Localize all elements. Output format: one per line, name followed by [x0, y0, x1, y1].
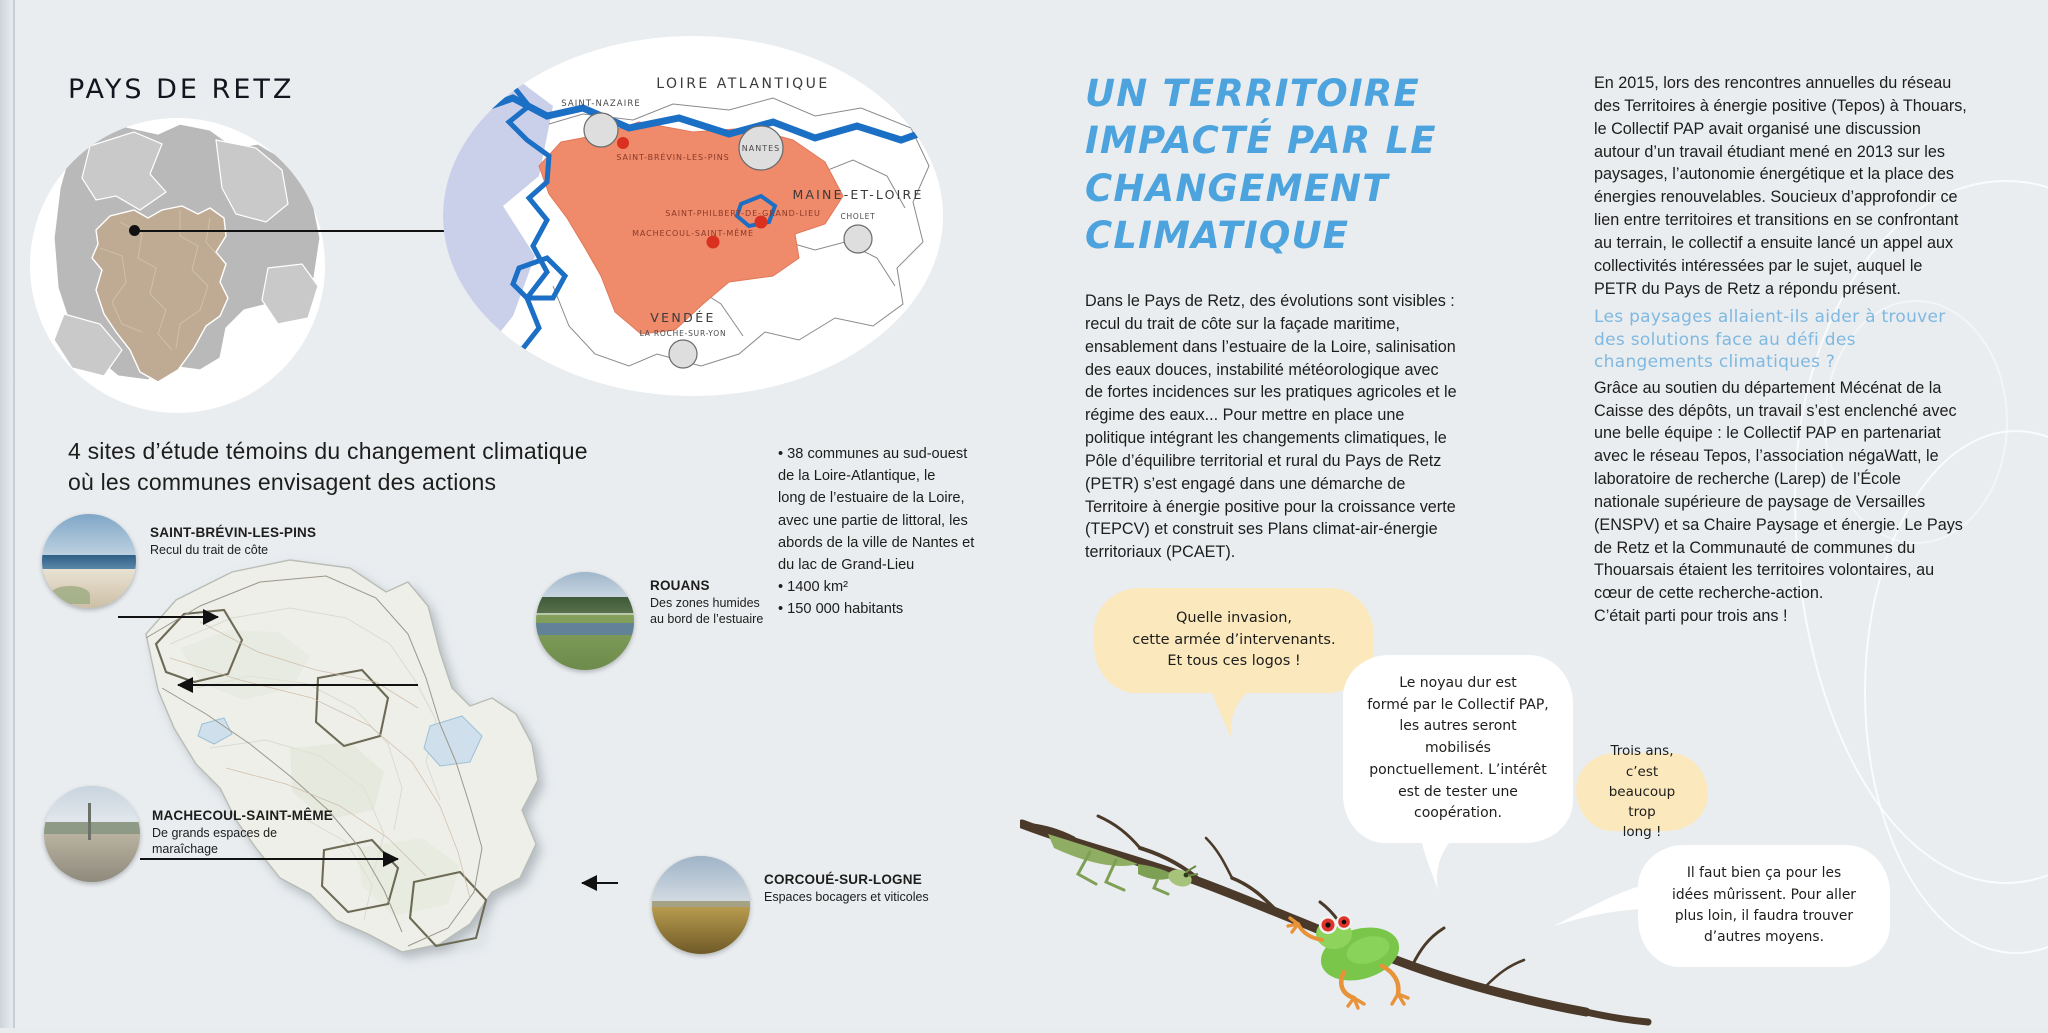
svg-text:NANTES: NANTES: [742, 144, 780, 153]
svg-text:SAINT-BRÉVIN-LES-PINS: SAINT-BRÉVIN-LES-PINS: [616, 151, 729, 162]
list-item: avec une partie de littoral, les: [778, 510, 998, 532]
svg-text:SAINT-PHILBERT-DE-GRAND-LIEU: SAINT-PHILBERT-DE-GRAND-LIEU: [665, 209, 821, 218]
site-name: CORCOUÉ-SUR-LOGNE: [764, 872, 1024, 887]
branch-and-animals-illustration: [1020, 790, 1720, 1028]
site-caption-rouans: ROUANS Des zones humides au bord de l’es…: [650, 578, 880, 627]
speech-bubble-invasion: Quelle invasion, cette armée d’intervena…: [1094, 588, 1374, 693]
site-photo-rouans: [536, 572, 634, 670]
site-description: Des zones humides au bord de l’estuaire: [650, 596, 880, 627]
svg-text:LA ROCHE-SUR-YON: LA ROCHE-SUR-YON: [640, 329, 727, 338]
svg-text:VENDÉE: VENDÉE: [650, 310, 716, 325]
right-paragraph-3: C’était parti pour trois ans !: [1594, 605, 1969, 628]
regional-map: LOIRE ATLANTIQUE MAINE-ET-LOIRE VENDÉE S…: [443, 36, 943, 396]
right-question: Les paysages allaient-ils aider à trouve…: [1594, 306, 1969, 372]
site-photo-saint-brevin: [42, 514, 136, 608]
france-locator-map: [30, 118, 325, 413]
site-description: Recul du trait de côte: [150, 543, 390, 559]
list-item: de la Loire-Atlantique, le: [778, 465, 998, 487]
left-gutter: [0, 0, 14, 1028]
main-body-text: Dans le Pays de Retz, des évolutions son…: [1085, 290, 1460, 564]
main-headline: UN TERRITOIRE IMPACTÉ PAR LE CHANGEMENT …: [1085, 70, 1505, 259]
site-caption-corcoue: CORCOUÉ-SUR-LOGNE Espaces bocagers et vi…: [764, 872, 1024, 906]
sites-heading-line2: où les communes envisagent des actions: [68, 467, 708, 498]
svg-text:LOIRE ATLANTIQUE: LOIRE ATLANTIQUE: [656, 76, 829, 92]
page-title: PAYS DE RETZ: [68, 74, 294, 105]
gutter-rule: [13, 0, 15, 1028]
site-photo-corcoue: [652, 856, 750, 954]
arrow-to-saint-brevin: [118, 616, 218, 618]
list-item: du lac de Grand-Lieu: [778, 554, 998, 576]
list-item: abords de la ville de Nantes et: [778, 532, 998, 554]
svg-text:MAINE-ET-LOIRE: MAINE-ET-LOIRE: [792, 187, 923, 202]
list-item: long de l’estuaire de la Loire,: [778, 487, 998, 509]
speech-bubble-invasion-tail: [1206, 684, 1266, 744]
arrow-to-corcoue: [582, 882, 618, 884]
site-name: ROUANS: [650, 578, 880, 593]
site-name: SAINT-BRÉVIN-LES-PINS: [150, 525, 390, 540]
site-description: De grands espaces de maraîchage: [152, 826, 402, 857]
site-caption-machecoul: MACHECOUL-SAINT-MÊME De grands espaces d…: [152, 808, 402, 857]
site-description: Espaces bocagers et viticoles: [764, 890, 1024, 906]
list-item: • 38 communes au sud-ouest: [778, 443, 998, 465]
right-paragraph-2: Grâce au soutien du département Mécénat …: [1594, 377, 1969, 605]
svg-text:SAINT-NAZAIRE: SAINT-NAZAIRE: [561, 99, 641, 109]
arrow-to-machecoul: [140, 858, 398, 860]
site-name: MACHECOUL-SAINT-MÊME: [152, 808, 402, 823]
sites-heading: 4 sites d’étude témoins du changement cl…: [68, 436, 708, 498]
poster-page: PAYS DE RETZ: [0, 0, 2048, 1028]
sites-heading-line1: 4 sites d’étude témoins du changement cl…: [68, 436, 708, 467]
svg-text:MACHECOUL-SAINT-MÊME: MACHECOUL-SAINT-MÊME: [632, 227, 754, 238]
arrow-to-rouans: [178, 684, 418, 686]
svg-text:CHOLET: CHOLET: [840, 212, 875, 221]
site-caption-saint-brevin: SAINT-BRÉVIN-LES-PINS Recul du trait de …: [150, 525, 390, 559]
right-paragraph-1: En 2015, lors des rencontres annuelles d…: [1594, 72, 1969, 300]
site-photo-machecoul: [44, 786, 140, 882]
right-column-text: En 2015, lors des rencontres annuelles d…: [1594, 72, 1969, 628]
